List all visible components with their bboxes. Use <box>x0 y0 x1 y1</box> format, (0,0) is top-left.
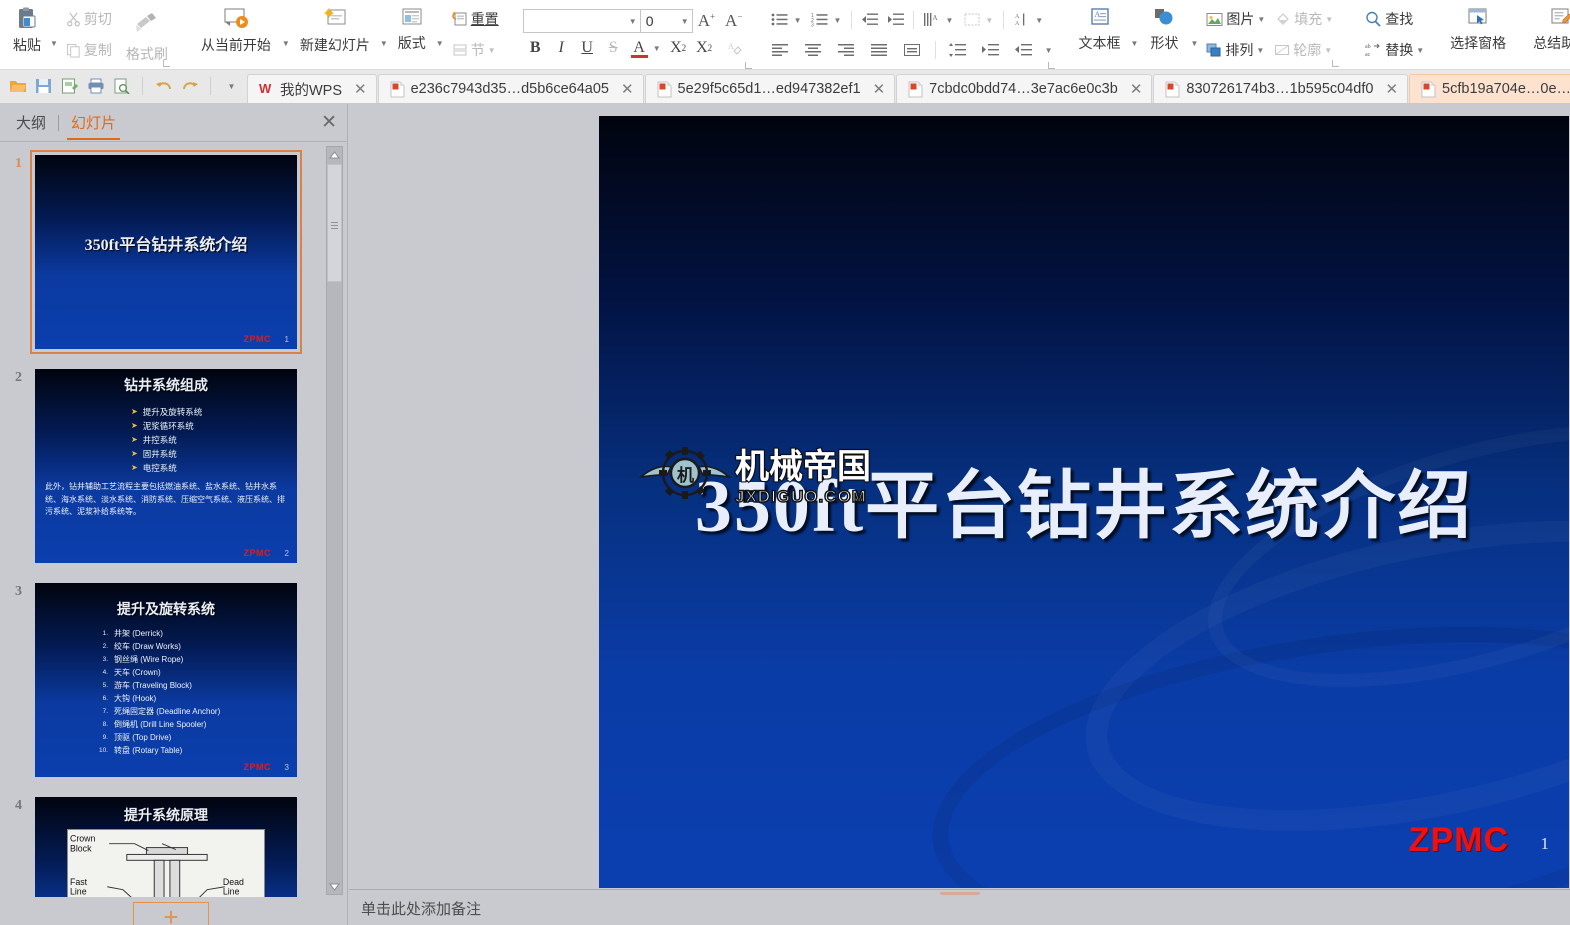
slide-3-text-8: 顶驱 (Top Drive) <box>114 731 171 744</box>
font-name-combobox[interactable]: ▼ <box>523 9 641 33</box>
slide-3-item-5: 6.大钩 (Hook) <box>97 692 220 705</box>
slide-3-index-1: 2. <box>97 640 108 653</box>
indent-increase-2-button[interactable] <box>979 38 1004 62</box>
format-painter-label: 格式刷 <box>126 44 168 64</box>
slide-2-bullet-text-1: 泥浆循环系统 <box>143 419 194 433</box>
paste-button[interactable]: 粘贴 <box>4 4 50 66</box>
paragraph-divider-2 <box>913 11 914 29</box>
find-label: 查找 <box>1385 9 1413 29</box>
slide-2-bullet-text-4: 电控系统 <box>143 461 177 475</box>
paragraph-divider <box>851 11 852 29</box>
textbox-label: 文本框 <box>1079 33 1121 53</box>
watermark-gear-wings-icon: 机 <box>639 437 731 520</box>
slide-4-title: 提升系统原理 <box>35 805 297 825</box>
ribbon-group-paragraph: ▼ 123 ▼ A ▼ ▼ <box>764 0 1057 69</box>
text-direction-caret-icon[interactable]: ▼ <box>945 17 953 25</box>
paragraph-spacing-button[interactable] <box>1012 38 1037 62</box>
diagram-label-fast: Fast <box>70 877 88 887</box>
paste-label: 粘贴 <box>13 35 41 55</box>
font-name-caret-icon[interactable]: ▼ <box>629 18 637 26</box>
clipboard-small-buttons: 剪切 复制 <box>58 3 120 67</box>
slide-3-title: 提升及旋转系统 <box>35 599 297 619</box>
slide-2-page-number: 2 <box>285 549 289 558</box>
scroll-up-icon[interactable] <box>327 147 342 162</box>
italic-button[interactable]: I <box>549 36 574 60</box>
slide-3-index-2: 3. <box>97 653 108 666</box>
replace-caret-icon[interactable]: ▼ <box>1416 47 1424 55</box>
open-icon[interactable] <box>8 77 27 96</box>
zpmc-logo: ZPMC <box>1409 821 1509 860</box>
slide-thumbnail-3[interactable]: 提升及旋转系统 1.井架 (Derrick) 2.绞车 (Draw Works)… <box>30 578 302 782</box>
slide-thumbnail-scroll[interactable]: 1 350ft平台钻井系统介绍 ZPMC 1 2 钻井系统组成 <box>0 142 348 897</box>
selection-pane-label: 选择窗格 <box>1450 33 1506 53</box>
tab-close-icon-0[interactable]: ✕ <box>354 80 367 98</box>
slide-number-1: 1 <box>0 150 30 172</box>
section-label: 节 <box>471 40 485 60</box>
superscript-value: 2 <box>682 43 687 53</box>
slide-thumbnail-list: 1 350ft平台钻井系统介绍 ZPMC 1 2 钻井系统组成 <box>0 142 348 897</box>
shape-button[interactable]: 形状 <box>1138 4 1190 66</box>
slide-thumbnail-row-2[interactable]: 2 钻井系统组成 ➤提升及旋转系统 ➤泥浆循环系统 ➤井控系统 ➤固井系统 ➤电… <box>0 364 348 578</box>
vertical-text-button[interactable]: AA <box>1009 8 1034 32</box>
slide-2-bullet-1: ➤泥浆循环系统 <box>131 419 202 433</box>
diagram-label-deadline: Line <box>223 887 240 897</box>
diagram-label-crown: Crown <box>70 834 96 844</box>
outline-icon <box>1274 43 1290 58</box>
tab-slides[interactable]: 幻灯片 <box>65 104 122 141</box>
font-controls-row: ▼ 0 ▼ A+ A− <box>523 9 748 33</box>
tab-list: W 我的WPS ✕ e236c7943d35…d5b6ce64a05 ✕ 5e2… <box>247 69 1570 103</box>
picture-button[interactable]: 图片 ▼ <box>1201 7 1270 31</box>
underline-button[interactable]: U <box>575 36 600 60</box>
align-left-button[interactable] <box>768 38 793 62</box>
subscript-button[interactable]: X2 <box>692 36 717 60</box>
font-size-caret-icon[interactable]: ▼ <box>681 18 689 26</box>
slide-mini-canvas-3: 提升及旋转系统 1.井架 (Derrick) 2.绞车 (Draw Works)… <box>35 583 297 777</box>
svg-text:A: A <box>932 14 937 22</box>
picture-icon <box>1206 12 1223 27</box>
clipboard-dialog-launcher[interactable] <box>163 60 170 67</box>
bullet-arrow-icon-3: ➤ <box>131 447 138 461</box>
replace-label: 替换 <box>1385 40 1413 60</box>
play-from-current-icon <box>222 6 250 32</box>
quick-access-divider <box>142 77 143 95</box>
ribbon-group-slides: 从当前开始 ▼ 新建幻灯片 ▼ <box>186 0 511 69</box>
font-size-value: 0 <box>646 13 654 29</box>
decrease-indent-button[interactable] <box>857 8 882 32</box>
slide-3-item-9: 10.转盘 (Rotary Table) <box>97 744 220 757</box>
slide-3-item-3: 4.天车 (Crown) <box>97 666 220 679</box>
quick-access-toolbar: ▼ <box>0 69 247 103</box>
slide-3-index-7: 8. <box>97 718 108 731</box>
svg-text:W: W <box>259 81 272 96</box>
slide-3-index-6: 7. <box>97 705 108 718</box>
slide-3-numbered-list: 1.井架 (Derrick) 2.绞车 (Draw Works) 3.钢丝绳 (… <box>97 627 220 757</box>
bullet-list-button[interactable] <box>768 8 793 32</box>
cut-button[interactable]: 剪切 <box>61 7 117 31</box>
slide-number-4: 4 <box>0 792 30 814</box>
svg-text:A: A <box>728 42 734 51</box>
outline-caret-icon[interactable]: ▼ <box>1324 47 1332 55</box>
document-tab-1[interactable]: e236c7943d35…d5b6ce64a05 ✕ <box>378 74 644 103</box>
paste-icon <box>14 6 40 32</box>
from-current-slide-button[interactable]: 从当前开始 <box>190 4 282 66</box>
justify-button[interactable] <box>867 38 892 62</box>
slide-3-item-0: 1.井架 (Derrick) <box>97 627 220 640</box>
new-slide-button[interactable]: 新建幻灯片 <box>290 4 380 66</box>
slide-2-paragraph: 此外，钻井辅助工艺流程主要包括燃油系统、盐水系统、钻井水系统、海水系统、淡水系统… <box>45 481 287 519</box>
svg-text:A: A <box>1094 10 1100 19</box>
fill-caret-icon[interactable]: ▼ <box>1325 16 1333 24</box>
clear-format-button[interactable]: A <box>723 36 748 60</box>
notes-placeholder[interactable]: 单击此处添加备注 <box>361 898 1570 919</box>
outline-label: 轮廓 <box>1293 40 1321 60</box>
arrange-label: 排列 <box>1225 40 1253 60</box>
slide-3-item-4: 5.游车 (Traveling Block) <box>97 679 220 692</box>
current-slide-canvas[interactable]: 350ft平台钻井系统介绍 <box>599 116 1569 888</box>
tab-close-icon-1[interactable]: ✕ <box>621 80 634 98</box>
slide-3-index-8: 9. <box>97 731 108 744</box>
slide-3-text-0: 井架 (Derrick) <box>114 627 163 640</box>
subscript-value: 2 <box>708 43 713 53</box>
fill-label: 填充 <box>1294 9 1322 29</box>
document-tab-3[interactable]: 7cbdc0bdd74…3e7ac6e0c3b ✕ <box>896 74 1152 103</box>
bullet-arrow-icon-2: ➤ <box>131 433 138 447</box>
notes-pane[interactable]: 单击此处添加备注 <box>349 889 1570 925</box>
scroll-down-icon[interactable] <box>327 879 342 894</box>
layout-label: 版式 <box>398 33 426 53</box>
section-icon <box>452 42 468 58</box>
ppt-file-icon-4 <box>1165 81 1180 98</box>
slide-3-text-5: 大钩 (Hook) <box>114 692 156 705</box>
paragraph-divider-4 <box>935 41 936 59</box>
document-tab-label-4: 830726174b3…1b595c04df0 <box>1186 81 1373 97</box>
save-as-icon[interactable] <box>60 77 79 96</box>
svg-text:A: A <box>1015 14 1020 20</box>
ppt-file-icon-3 <box>908 81 923 98</box>
slide-mini-canvas-4: 提升系统原理 <box>35 797 297 897</box>
textbox-button[interactable]: A 文本框 <box>1069 4 1131 66</box>
line-spacing-button[interactable] <box>946 38 971 62</box>
close-pane-icon[interactable]: ✕ <box>321 113 337 132</box>
find-replace-column: 查找 ab ac 替换 ▼ <box>1357 3 1432 67</box>
document-tab-label-5: 5cfb19a704e…0e… <box>1442 81 1570 97</box>
ppt-file-icon <box>390 81 405 98</box>
textbox-icon: A <box>1087 6 1113 30</box>
ribbon-toolbar: 粘贴 ▼ 剪切 <box>0 0 1570 70</box>
arrange-icon <box>1206 43 1222 58</box>
cut-label: 剪切 <box>84 9 112 29</box>
slide-1-page-number: 1 <box>285 335 289 344</box>
document-tab-5[interactable]: 5cfb19a704e…0e… <box>1409 74 1570 103</box>
slide-3-item-1: 2.绞车 (Draw Works) <box>97 640 220 653</box>
format-painter-icon <box>134 12 160 34</box>
slide-3-page-number: 3 <box>285 763 289 772</box>
redo-icon[interactable] <box>180 77 199 96</box>
distribute-button[interactable] <box>900 38 925 62</box>
slide-3-index-4: 5. <box>97 679 108 692</box>
slide-pane-scrollbar[interactable] <box>326 146 343 895</box>
bold-button[interactable]: B <box>523 36 548 60</box>
slide-2-bullet-4: ➤电控系统 <box>131 461 202 475</box>
ribbon-group-clipboard: 粘贴 ▼ 剪切 <box>0 0 178 69</box>
paragraph-divider-3 <box>1003 11 1004 29</box>
align-right-button[interactable] <box>834 38 859 62</box>
document-tab-label-3: 7cbdc0bdd74…3e7ac6e0c3b <box>929 81 1118 97</box>
document-tab-label-0: 我的WPS <box>280 79 342 100</box>
slide-thumbnail-row-4[interactable]: 4 提升系统原理 <box>0 792 348 897</box>
layout-button[interactable]: 版式 <box>388 4 436 66</box>
slide-edit-area[interactable]: 350ft平台钻井系统介绍 <box>349 104 1570 925</box>
paragraph-bottom-row: ▼ <box>768 35 1053 65</box>
text-direction-button[interactable]: A <box>919 8 944 32</box>
paragraph-top-row: ▼ 123 ▼ A ▼ ▼ <box>768 4 1044 35</box>
copy-button[interactable]: 复制 <box>61 38 117 62</box>
insert-small-buttons: 图片 ▼ 填充 ▼ <box>1198 3 1341 67</box>
slide-thumbnail-row-1[interactable]: 1 350ft平台钻井系统介绍 ZPMC 1 <box>0 150 348 364</box>
copy-label: 复制 <box>84 40 112 60</box>
slide-navigator-pane: 大纲 幻灯片 ✕ 1 350ft平台钻井系统介绍 ZPMC 1 <box>0 104 348 925</box>
numbered-list-caret-icon[interactable]: ▼ <box>834 17 842 25</box>
slide-3-zpmc-logo: ZPMC <box>244 762 272 772</box>
diagram-label-dead: Dead <box>223 877 244 887</box>
ribbon-group-editing: 查找 ab ac 替换 ▼ <box>1353 0 1570 69</box>
slide-2-bullet-2: ➤井控系统 <box>131 433 202 447</box>
fill-icon <box>1275 12 1291 27</box>
slide-4-diagram: Crown Block Fast Line Dead Line <box>67 829 265 897</box>
slide-2-bullet-text-0: 提升及旋转系统 <box>143 405 203 419</box>
tab-close-icon-3[interactable]: ✕ <box>1130 80 1143 98</box>
slide-3-item-7: 8.倒绳机 (Drill Line Spooler) <box>97 718 220 731</box>
ppt-file-icon-5 <box>1421 81 1436 98</box>
add-slide-button[interactable]: + <box>133 902 209 925</box>
scrollbar-grip-icon <box>331 220 338 227</box>
replace-button[interactable]: ab ac 替换 ▼ <box>1360 38 1429 62</box>
format-painter-button[interactable]: 格式刷 <box>120 4 174 66</box>
slide-3-item-8: 9.顶驱 (Top Drive) <box>97 731 220 744</box>
ppt-file-icon-2 <box>657 81 672 98</box>
customize-caret-icon[interactable]: ▼ <box>222 77 241 96</box>
slide-2-bullet-3: ➤固井系统 <box>131 447 202 461</box>
selection-pane-icon <box>1465 6 1492 30</box>
grow-font-label: A <box>698 11 710 30</box>
svg-text:A: A <box>1015 21 1020 27</box>
increase-indent-button[interactable] <box>883 8 908 32</box>
svg-text:ac: ac <box>1365 52 1371 58</box>
slide-thumbnail-4[interactable]: 提升系统原理 <box>30 792 302 897</box>
reset-icon <box>452 11 468 27</box>
slide-2-zpmc-logo: ZPMC <box>244 548 272 558</box>
slide-3-text-4: 游车 (Traveling Block) <box>114 679 192 692</box>
arrange-button[interactable]: 排列 ▼ <box>1201 38 1269 62</box>
diagram-label-block: Block <box>70 844 92 854</box>
slide-thumbnail-row-3[interactable]: 3 提升及旋转系统 1.井架 (Derrick) 2.绞车 (Draw Work… <box>0 578 348 792</box>
superscript-button[interactable]: X2 <box>666 36 691 60</box>
watermark-main-text: 机械帝国 <box>735 451 871 485</box>
document-tab-label-1: e236c7943d35…d5b6ce64a05 <box>411 81 609 97</box>
slide-2-title: 钻井系统组成 <box>35 375 297 395</box>
summary-assistant-icon <box>1548 6 1570 30</box>
font-color-caret-icon[interactable]: ▼ <box>653 45 661 53</box>
slide-3-item-6: 7.死绳固定器 (Deadline Anchor) <box>97 705 220 718</box>
slide-1-title: 350ft平台钻井系统介绍 <box>35 231 297 255</box>
slide-2-bullet-text-3: 固井系统 <box>143 447 177 461</box>
document-tab-0[interactable]: W 我的WPS ✕ <box>247 74 377 103</box>
watermark: 机 机械帝国 JXDIGUO.COM <box>639 436 939 521</box>
tab-outline[interactable]: 大纲 <box>10 104 52 141</box>
slide-3-text-9: 转盘 (Rotary Table) <box>114 744 182 757</box>
paragraph-spacing-caret-icon[interactable]: ▼ <box>1045 47 1053 55</box>
section-caret-icon[interactable]: ▼ <box>488 47 496 55</box>
wps-presentation-window: 粘贴 ▼ 剪切 <box>0 0 1570 925</box>
strikethrough-button[interactable]: S <box>601 36 626 60</box>
shrink-font-button[interactable]: A− <box>720 11 747 31</box>
new-slide-caret-icon[interactable]: ▼ <box>380 40 388 48</box>
shape-label: 形状 <box>1150 33 1178 53</box>
svg-text:ab: ab <box>1365 44 1371 50</box>
shape-icon <box>1151 6 1177 30</box>
slide-3-index-9: 10. <box>97 744 108 757</box>
shape-caret-icon[interactable]: ▼ <box>1190 40 1198 48</box>
slide-3-text-3: 天车 (Crown) <box>114 666 161 679</box>
document-tab-2[interactable]: 5e29f5c65d1…ed947382ef1 ✕ <box>645 74 896 103</box>
slide-2-bullet-list: ➤提升及旋转系统 ➤泥浆循环系统 ➤井控系统 ➤固井系统 ➤电控系统 <box>131 405 202 475</box>
slide-3-item-2: 3.钢丝绳 (Wire Rope) <box>97 653 220 666</box>
slide-thumbnail-2[interactable]: 钻井系统组成 ➤提升及旋转系统 ➤泥浆循环系统 ➤井控系统 ➤固井系统 ➤电控系… <box>30 364 302 568</box>
slide-1-zpmc-logo: ZPMC <box>244 334 272 344</box>
search-icon <box>1365 11 1382 27</box>
arrange-caret-icon[interactable]: ▼ <box>1256 47 1264 55</box>
document-tab-bar: ▼ W 我的WPS ✕ e236c7943d35…d5b6ce64a05 ✕ <box>0 70 1570 104</box>
print-icon[interactable] <box>86 77 105 96</box>
document-tab-4[interactable]: 830726174b3…1b595c04df0 ✕ <box>1153 74 1408 103</box>
slide-3-index-3: 4. <box>97 666 108 679</box>
text-align-box-caret-icon[interactable]: ▼ <box>985 17 993 25</box>
new-slide-label: 新建幻灯片 <box>300 35 370 55</box>
font-format-row: B I U S A ▼ X2 X2 A <box>523 33 748 63</box>
scrollbar-thumb[interactable] <box>327 164 342 282</box>
reset-label: 重置 <box>471 9 499 29</box>
textbox-caret-icon[interactable]: ▼ <box>1131 40 1139 48</box>
from-current-slide-label: 从当前开始 <box>201 35 271 55</box>
slide-number-3: 3 <box>0 578 30 600</box>
slide-thumbnail-1[interactable]: 350ft平台钻井系统介绍 ZPMC 1 <box>30 150 302 354</box>
fill-button[interactable]: 填充 ▼ <box>1270 7 1338 31</box>
layout-icon <box>399 6 425 30</box>
numbered-list-button[interactable]: 123 <box>808 8 833 32</box>
font-color-button[interactable]: A <box>627 36 652 60</box>
copy-icon <box>66 43 81 58</box>
paragraph-dialog-launcher[interactable] <box>1048 62 1055 69</box>
slide-3-index-5: 6. <box>97 692 108 705</box>
bullet-arrow-icon-4: ➤ <box>131 461 138 475</box>
text-align-box-button[interactable] <box>959 8 984 32</box>
print-preview-icon[interactable] <box>112 77 131 96</box>
document-tab-label-2: 5e29f5c65d1…ed947382ef1 <box>678 81 861 97</box>
font-size-combobox[interactable]: 0 ▼ <box>641 9 693 33</box>
ribbon-group-font: ▼ 0 ▼ A+ A− B I U S A ▼ X2 X <box>519 0 756 69</box>
slide-3-text-6: 死绳固定器 (Deadline Anchor) <box>114 705 220 718</box>
plus-icon: + <box>163 904 178 925</box>
quick-access-divider-2 <box>210 77 211 95</box>
slide-number-2: 2 <box>0 364 30 386</box>
watermark-text-block: 机械帝国 JXDIGUO.COM <box>735 451 871 507</box>
bullet-list-caret-icon[interactable]: ▼ <box>794 17 802 25</box>
slides-small-buttons: 重置 节 ▼ <box>444 3 507 67</box>
paste-caret-icon[interactable]: ▼ <box>50 40 58 48</box>
ribbon-group-insert: A 文本框 ▼ 形状 ▼ <box>1065 0 1346 69</box>
bullet-arrow-icon-1: ➤ <box>131 419 138 433</box>
new-slide-icon <box>321 6 349 32</box>
pane-tab-divider <box>58 115 59 131</box>
summary-assistant-label: 总结助手 <box>1533 33 1570 53</box>
slide-page-number: 1 <box>1541 834 1550 854</box>
section-button[interactable]: 节 ▼ <box>447 38 501 62</box>
notes-resize-grip[interactable] <box>940 892 980 895</box>
align-center-button[interactable] <box>801 38 826 62</box>
slide-pane-header: 大纲 幻灯片 ✕ <box>0 104 347 142</box>
replace-icon: ab ac <box>1365 42 1382 58</box>
slide-3-text-7: 倒绳机 (Drill Line Spooler) <box>114 718 206 731</box>
tab-close-icon-4[interactable]: ✕ <box>1385 80 1398 98</box>
slide-mini-canvas-2: 钻井系统组成 ➤提升及旋转系统 ➤泥浆循环系统 ➤井控系统 ➤固井系统 ➤电控系… <box>35 369 297 563</box>
selection-pane-button[interactable]: 选择窗格 <box>1441 4 1515 66</box>
slide-mini-canvas-1: 350ft平台钻井系统介绍 ZPMC 1 <box>35 155 297 349</box>
diagram-label-fastline: Line <box>70 887 87 897</box>
grow-font-button[interactable]: A+ <box>693 11 720 31</box>
slide-3-text-2: 钢丝绳 (Wire Rope) <box>114 653 183 666</box>
slide-2-bullet-text-2: 井控系统 <box>143 433 177 447</box>
from-current-caret-icon[interactable]: ▼ <box>282 40 290 48</box>
slide-3-text-1: 绞车 (Draw Works) <box>114 640 181 653</box>
slide-2-bullet-0: ➤提升及旋转系统 <box>131 405 202 419</box>
outline-button[interactable]: 轮廓 ▼ <box>1269 38 1337 62</box>
bullet-arrow-icon: ➤ <box>131 405 138 419</box>
scissors-icon <box>66 12 81 27</box>
watermark-sub-text: JXDIGUO.COM <box>735 487 867 507</box>
layout-caret-icon[interactable]: ▼ <box>436 40 444 48</box>
undo-icon[interactable] <box>154 77 173 96</box>
save-icon[interactable] <box>34 77 53 96</box>
reset-button[interactable]: 重置 <box>447 7 504 31</box>
picture-caret-icon[interactable]: ▼ <box>1257 16 1265 24</box>
tab-close-icon-2[interactable]: ✕ <box>873 80 886 98</box>
shrink-font-label: A <box>725 11 737 30</box>
vertical-text-caret-icon[interactable]: ▼ <box>1035 17 1043 25</box>
picture-label: 图片 <box>1226 9 1254 29</box>
slide-3-index-0: 1. <box>97 627 108 640</box>
insert-dialog-launcher[interactable] <box>1332 60 1339 67</box>
wps-logo-icon: W <box>259 81 274 98</box>
find-button[interactable]: 查找 <box>1360 7 1418 31</box>
font-dialog-launcher[interactable] <box>745 62 752 69</box>
svg-text:机: 机 <box>677 465 694 485</box>
svg-text:3: 3 <box>811 23 814 28</box>
summary-assistant-button[interactable]: 总结助手 <box>1524 4 1570 66</box>
